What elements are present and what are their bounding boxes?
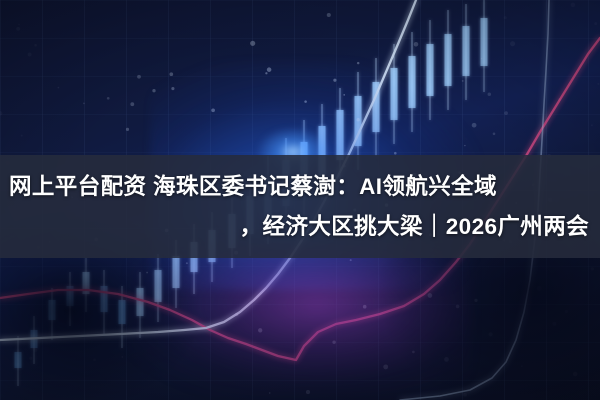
page-title-line1: 网上平台配资 海珠区委书记蔡澍：AI领航兴全域 [0, 167, 497, 207]
title-band: 网上平台配资 海珠区委书记蔡澍：AI领航兴全域 ，经济大区挑大梁｜2026广州两… [0, 155, 600, 258]
article-banner: 网上平台配资 海珠区委书记蔡澍：AI领航兴全域 ，经济大区挑大梁｜2026广州两… [0, 0, 600, 400]
page-title-line2: ，经济大区挑大梁｜2026广州两会 [240, 207, 600, 247]
